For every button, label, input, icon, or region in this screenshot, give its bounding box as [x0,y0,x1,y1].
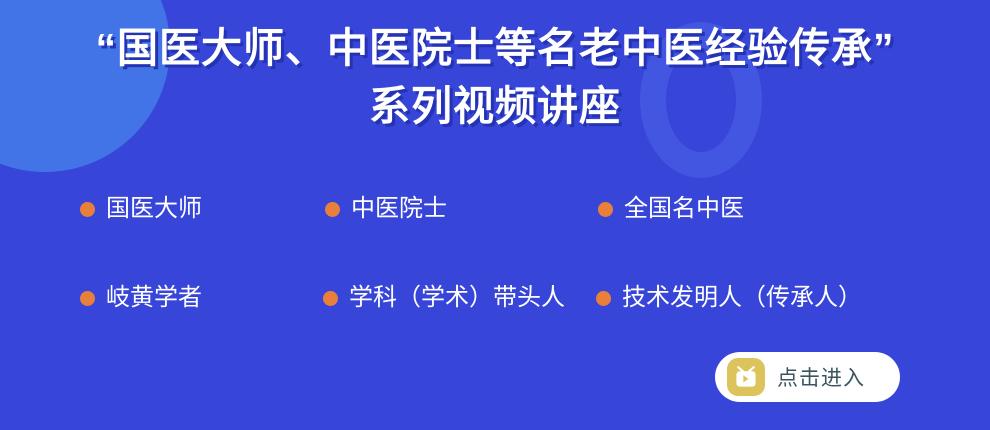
category-item-guoyidashi[interactable]: 国医大师 [80,186,202,232]
category-item-qihuangxuezhe[interactable]: 岐黄学者 [80,275,202,321]
enter-button-label: 点击进入 [777,362,865,392]
category-label: 学科（学术）带头人 [349,275,565,321]
bullet-dot-icon [323,291,338,306]
category-item-zhongyiyuanshi[interactable]: 中医院士 [325,186,447,232]
category-item-quanguomingzhongyi[interactable]: 全国名中医 [598,186,744,232]
title-line-2: 系列视频讲座 [0,78,990,134]
tv-video-icon [727,358,765,396]
bullet-dot-icon [596,291,611,306]
category-row-2: 岐黄学者 学科（学术）带头人 技术发明人（传承人） [0,275,990,321]
enter-button[interactable]: 点击进入 [715,352,900,402]
bullet-dot-icon [80,291,95,306]
banner-title: “国医大师、中医院士等名老中医经验传承” 系列视频讲座 [0,20,990,134]
category-label: 岐黄学者 [106,275,202,321]
category-label: 国医大师 [106,186,202,232]
category-item-jishufamingren[interactable]: 技术发明人（传承人） [596,275,862,321]
title-line-1: “国医大师、中医院士等名老中医经验传承” [0,20,990,76]
category-item-xuekedaitouren[interactable]: 学科（学术）带头人 [323,275,565,321]
category-row-1: 国医大师 中医院士 全国名中医 [0,186,990,232]
category-list: 国医大师 中医院士 全国名中医 岐黄学者 学科（学术）带头人 技术发 [0,186,990,321]
promo-banner: “国医大师、中医院士等名老中医经验传承” 系列视频讲座 国医大师 中医院士 全国… [0,0,990,430]
bullet-dot-icon [598,202,613,217]
category-label: 中医院士 [351,186,447,232]
bullet-dot-icon [80,202,95,217]
category-label: 技术发明人（传承人） [622,275,862,321]
bullet-dot-icon [325,202,340,217]
category-label: 全国名中医 [624,186,744,232]
